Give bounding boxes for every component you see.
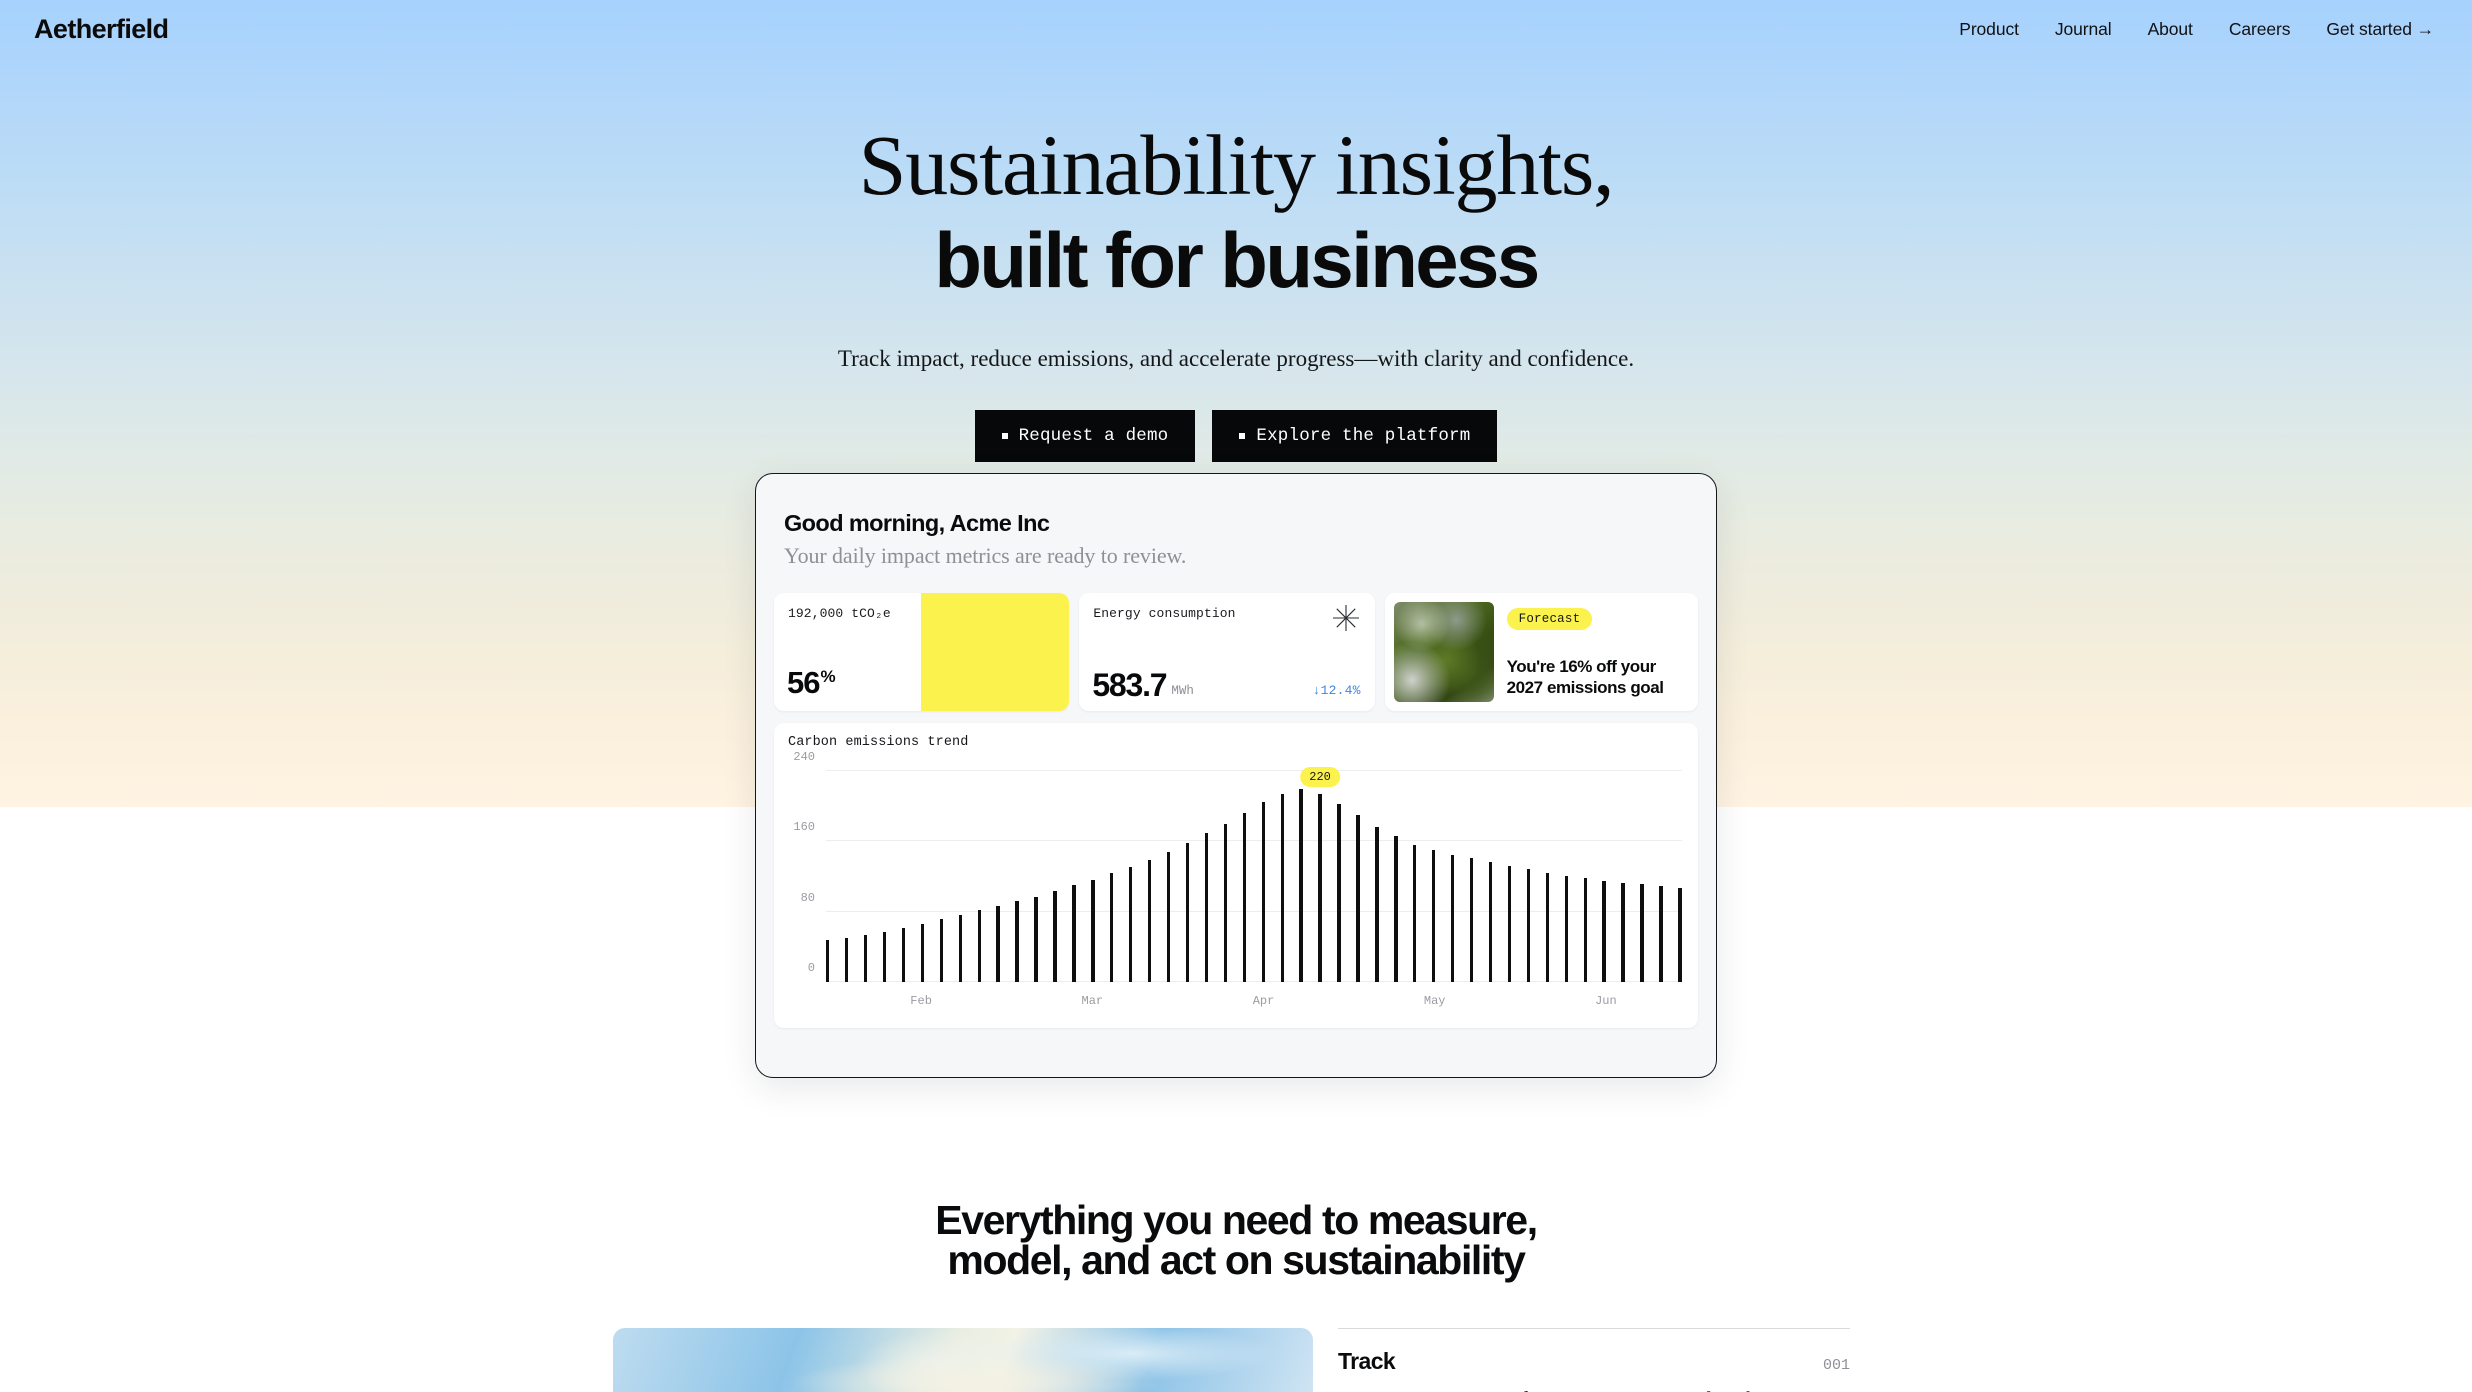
feature-item-name: Track	[1338, 1348, 1395, 1375]
chart-bar[interactable]	[1034, 897, 1037, 982]
chart-bar[interactable]	[978, 910, 981, 982]
dashboard-greeting-subtitle: Your daily impact metrics are ready to r…	[784, 543, 1688, 569]
chart-bar[interactable]	[1148, 860, 1151, 982]
chart-plot-area[interactable]: 080160240220FebMarAprMayJun	[826, 771, 1682, 982]
chart-x-tick: Mar	[1081, 994, 1103, 1008]
energy-label: Energy consumption	[1093, 606, 1235, 621]
chart-bar[interactable]	[826, 940, 829, 982]
request-demo-button[interactable]: Request a demo	[975, 410, 1196, 462]
forecast-badge[interactable]: Forecast	[1507, 608, 1593, 630]
metric-card-forecast[interactable]: Forecast You're 16% off your 2027 emissi…	[1385, 593, 1698, 711]
chart-bar[interactable]	[1565, 876, 1568, 982]
chart-bar[interactable]	[864, 935, 867, 982]
hero-subtitle: Track impact, reduce emissions, and acce…	[0, 344, 2472, 374]
emissions-value: 56 %	[787, 665, 835, 701]
carbon-emissions-chart-panel: Carbon emissions trend 080160240220FebMa…	[774, 723, 1698, 1028]
nav-link-about[interactable]: About	[2148, 19, 2193, 40]
get-started-link[interactable]: Get started →	[2326, 19, 2434, 40]
chart-bar[interactable]	[940, 919, 943, 982]
hero-cta-group: Request a demo Explore the platform	[0, 410, 2472, 462]
chart-bar[interactable]	[1091, 880, 1094, 982]
nav-links: Product Journal About Careers Get starte…	[1959, 19, 2434, 40]
metric-card-emissions[interactable]: 192,000 tCO₂e 56 %	[774, 593, 1069, 711]
energy-unit: MWh	[1171, 684, 1194, 700]
chart-bar[interactable]	[1527, 869, 1530, 982]
dashboard-greeting-title: Good morning, Acme Inc	[784, 510, 1688, 537]
chart-bar[interactable]	[1678, 888, 1681, 982]
energy-number: 583.7	[1092, 670, 1166, 700]
chart-bars: 220	[826, 771, 1682, 982]
chart-bar[interactable]	[1015, 901, 1018, 982]
brand-logo[interactable]: Aetherfield	[34, 14, 168, 45]
chart-bar[interactable]	[1186, 843, 1189, 982]
forecast-headline-line1: You're 16% off your	[1507, 657, 1656, 676]
chart-bar[interactable]	[1413, 845, 1416, 982]
chart-bar[interactable]	[1546, 873, 1549, 982]
chart-bar[interactable]	[1451, 855, 1454, 982]
chart-bar[interactable]	[921, 924, 924, 982]
chart-bar[interactable]	[1110, 873, 1113, 982]
chart-bar[interactable]	[1659, 886, 1662, 982]
chart-bar[interactable]	[1167, 852, 1170, 982]
chart-bar[interactable]	[1243, 813, 1246, 982]
chart-bar[interactable]	[883, 932, 886, 982]
forecast-headline-line2: 2027 emissions goal	[1507, 678, 1664, 697]
chart-x-tick: Apr	[1253, 994, 1275, 1008]
features-heading-line1: Everything you need to measure,	[0, 1200, 2472, 1240]
feature-list: Track 001 Emissions, energy, and waste a…	[1338, 1328, 1850, 1392]
chart-title: Carbon emissions trend	[788, 735, 968, 750]
feature-item-track[interactable]: Track 001	[1338, 1348, 1850, 1375]
chart-x-tick: Feb	[910, 994, 932, 1008]
emissions-label: 192,000 tCO₂e	[788, 606, 891, 621]
chart-bar[interactable]	[1640, 884, 1643, 982]
dashboard-greeting-block: Good morning, Acme Inc Your daily impact…	[756, 510, 1716, 569]
hero-headline-line1: Sustainability insights,	[0, 118, 2472, 212]
chart-y-tick: 160	[793, 820, 815, 834]
metric-card-energy[interactable]: Energy consumption 583.7 MWh ↓12.4%	[1079, 593, 1374, 711]
features-heading-line2: model, and act on sustainability	[0, 1240, 2472, 1280]
features-heading: Everything you need to measure, model, a…	[0, 1200, 2472, 1280]
chart-value-tooltip: 220	[1300, 767, 1340, 787]
chart-bar[interactable]	[1072, 885, 1075, 982]
explore-platform-label: Explore the platform	[1256, 426, 1470, 446]
chart-bar[interactable]	[902, 928, 905, 983]
request-demo-label: Request a demo	[1019, 426, 1169, 446]
nav-link-product[interactable]: Product	[1959, 19, 2019, 40]
feature-iceberg-image	[613, 1328, 1313, 1392]
hero-headline-line2: built for business	[0, 214, 2472, 306]
nav-link-journal[interactable]: Journal	[2055, 19, 2112, 40]
chart-bar[interactable]	[1356, 815, 1359, 982]
chart-bar[interactable]	[959, 915, 962, 982]
chart-bar[interactable]	[1470, 858, 1473, 982]
chart-bar[interactable]	[1337, 804, 1340, 982]
chart-bar[interactable]	[1262, 802, 1265, 982]
chart-bar[interactable]	[1053, 891, 1056, 982]
dashboard-preview-card: Good morning, Acme Inc Your daily impact…	[755, 473, 1717, 1078]
forecast-thumbnail-image	[1394, 602, 1494, 702]
explore-platform-button[interactable]: Explore the platform	[1212, 410, 1497, 462]
square-bullet-icon	[1239, 433, 1245, 439]
chart-bar[interactable]	[1375, 827, 1378, 982]
chart-bar[interactable]	[1394, 836, 1397, 982]
chart-y-tick: 0	[808, 961, 815, 975]
chart-bar[interactable]	[1432, 850, 1435, 982]
top-navigation-bar: Aetherfield Product Journal About Career…	[0, 0, 2472, 58]
chart-bar[interactable]	[1602, 881, 1605, 982]
square-bullet-icon	[1002, 433, 1008, 439]
energy-value: 583.7 MWh	[1092, 670, 1194, 700]
chart-x-tick: May	[1424, 994, 1446, 1008]
forecast-headline: You're 16% off your 2027 emissions goal	[1507, 656, 1664, 698]
chart-bar[interactable]: 220	[1318, 794, 1321, 982]
chart-y-tick: 240	[793, 750, 815, 764]
chart-bar[interactable]	[1205, 833, 1208, 982]
chart-bar[interactable]	[1508, 866, 1511, 982]
feature-item-number: 001	[1823, 1357, 1850, 1374]
chart-bar[interactable]	[1621, 883, 1624, 982]
forecast-content: Forecast You're 16% off your 2027 emissi…	[1507, 602, 1664, 702]
hero-section: Sustainability insights, built for busin…	[0, 118, 2472, 462]
chart-bar[interactable]	[1489, 862, 1492, 982]
chart-bar[interactable]	[1281, 794, 1284, 982]
chart-bar[interactable]	[1299, 789, 1302, 982]
chart-bar[interactable]	[1129, 867, 1132, 982]
emissions-color-swatch	[921, 593, 1069, 711]
emissions-unit: %	[820, 667, 834, 687]
asterisk-icon	[1331, 603, 1361, 633]
energy-delta: ↓12.4%	[1313, 683, 1361, 698]
chart-y-tick: 80	[801, 891, 815, 905]
chart-bar[interactable]	[996, 906, 999, 982]
metric-card-row: 192,000 tCO₂e 56 % Energy consumption	[756, 593, 1716, 711]
nav-link-careers[interactable]: Careers	[2229, 19, 2291, 40]
chart-x-tick: Jun	[1595, 994, 1617, 1008]
feature-divider	[1338, 1328, 1850, 1329]
feature-item-description: Emissions, energy, and waste across your…	[1338, 1387, 1850, 1392]
chart-bar[interactable]	[1224, 824, 1227, 982]
chart-bar[interactable]	[1584, 878, 1587, 982]
emissions-number: 56	[787, 665, 819, 701]
chart-bar[interactable]	[845, 938, 848, 982]
